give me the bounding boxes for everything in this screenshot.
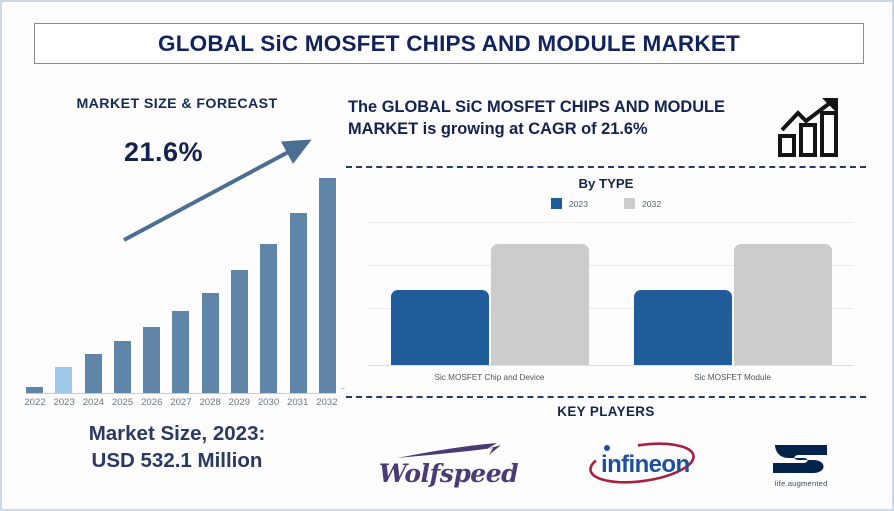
details-panel: The GLOBAL SiC MOSFET CHIPS AND MODULE M… bbox=[346, 82, 866, 502]
year-label-2026: 2026 bbox=[139, 397, 165, 408]
year-label-2024: 2024 bbox=[80, 397, 106, 408]
chart-axis-line bbox=[26, 393, 336, 394]
infographic-root: GLOBAL SiC MOSFET CHIPS AND MODULE MARKE… bbox=[0, 0, 894, 511]
market-size-callout: Market Size, 2023: USD 532.1 Million bbox=[12, 420, 342, 474]
bar-2025 bbox=[114, 341, 131, 394]
type-chart-legend: 20232032 bbox=[346, 198, 866, 209]
type-category-labels: Sic MOSFET Chip and DeviceSic MOSFET Mod… bbox=[368, 373, 854, 382]
page-title: GLOBAL SiC MOSFET CHIPS AND MODULE MARKE… bbox=[158, 31, 740, 57]
market-size-bar-chart bbox=[26, 164, 336, 394]
key-players-title: KEY PLAYERS bbox=[346, 404, 866, 419]
bar-2023 bbox=[55, 367, 72, 394]
bar-2027 bbox=[172, 311, 189, 394]
bar-2024 bbox=[85, 354, 102, 394]
year-label-2029: 2029 bbox=[226, 397, 252, 408]
bar-2031 bbox=[290, 213, 307, 394]
market-size-panel: MARKET SIZE & FORECAST 21.6% -- 20222023… bbox=[12, 82, 342, 497]
logo-stmicroelectronics: life.augmented bbox=[769, 439, 833, 488]
separator-bottom bbox=[346, 396, 866, 398]
bar-group-1 bbox=[611, 232, 854, 366]
bar-2032-1 bbox=[734, 244, 832, 366]
type-category-label-0: Sic MOSFET Chip and Device bbox=[368, 373, 611, 382]
market-size-line-2: USD 532.1 Million bbox=[12, 447, 342, 474]
bar-2032-0 bbox=[491, 244, 589, 366]
market-size-line-1: Market Size, 2023: bbox=[12, 420, 342, 447]
cagr-statement: The GLOBAL SiC MOSFET CHIPS AND MODULE M… bbox=[348, 96, 768, 141]
infineon-wordmark: infineon bbox=[601, 451, 690, 478]
bar-group-0 bbox=[368, 232, 611, 366]
key-players-logos: Wolfspeed infineon life.augmented bbox=[346, 426, 866, 500]
legend-label-2032: 2032 bbox=[642, 199, 661, 209]
title-bar: GLOBAL SiC MOSFET CHIPS AND MODULE MARKE… bbox=[34, 23, 864, 64]
separator-top bbox=[346, 166, 866, 168]
bar-2023-0 bbox=[391, 290, 489, 366]
infineon-logo-icon: infineon bbox=[584, 440, 704, 486]
type-category-label-1: Sic MOSFET Module bbox=[611, 373, 854, 382]
year-axis-labels: 2022202320242025202620272028202920302031… bbox=[22, 397, 340, 408]
year-label-2031: 2031 bbox=[285, 397, 311, 408]
legend-label-2023: 2023 bbox=[569, 199, 588, 209]
by-type-title: By TYPE bbox=[346, 176, 866, 191]
type-bar-series bbox=[368, 232, 854, 366]
legend-swatch-2032 bbox=[624, 198, 635, 209]
wolfspeed-wordmark: Wolfspeed bbox=[379, 461, 518, 486]
gridline bbox=[368, 222, 854, 223]
year-label-2028: 2028 bbox=[197, 397, 223, 408]
st-tagline: life.augmented bbox=[775, 479, 828, 488]
year-label-2030: 2030 bbox=[256, 397, 282, 408]
market-size-heading: MARKET SIZE & FORECAST bbox=[12, 96, 342, 112]
bar-2032 bbox=[319, 178, 336, 394]
logo-wolfspeed: Wolfspeed bbox=[379, 441, 518, 486]
bar-2029 bbox=[231, 270, 248, 394]
type-bar-chart: Sic MOSFET Chip and DeviceSic MOSFET Mod… bbox=[368, 218, 854, 384]
year-label-2023: 2023 bbox=[51, 397, 77, 408]
st-logo-icon bbox=[769, 439, 833, 477]
bar-series bbox=[26, 166, 336, 394]
axis-tick-mark: -- bbox=[341, 384, 344, 393]
bar-2023-1 bbox=[634, 290, 732, 366]
year-label-2032: 2032 bbox=[314, 397, 340, 408]
bar-chart-growth-icon bbox=[776, 96, 848, 158]
bar-2030 bbox=[260, 244, 277, 394]
year-label-2027: 2027 bbox=[168, 397, 194, 408]
bar-2026 bbox=[143, 327, 160, 394]
year-label-2025: 2025 bbox=[110, 397, 136, 408]
legend-swatch-2023 bbox=[551, 198, 562, 209]
bar-2028 bbox=[202, 293, 219, 394]
wolfspeed-swoosh-icon bbox=[389, 441, 507, 461]
logo-infineon: infineon bbox=[584, 440, 704, 486]
type-chart-axis bbox=[368, 365, 854, 366]
year-label-2022: 2022 bbox=[22, 397, 48, 408]
legend-item-2032: 2032 bbox=[624, 198, 661, 209]
legend-item-2023: 2023 bbox=[551, 198, 588, 209]
